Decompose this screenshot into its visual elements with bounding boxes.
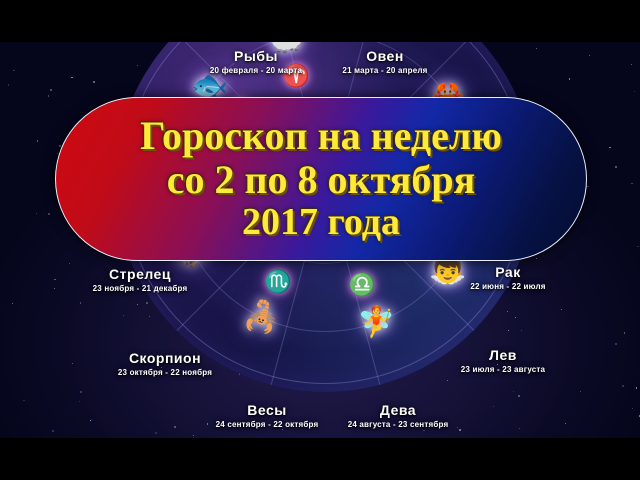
sign-label-virgo: Дева 24 августа - 23 сентября	[328, 402, 468, 429]
wheel-glyph-5: ♎	[349, 272, 376, 298]
letterbox-bottom	[0, 438, 640, 480]
title-banner: Гороскоп на неделю со 2 по 8 октября 201…	[55, 97, 587, 261]
sign-label-cancer: Рак 22 июня - 22 июля	[448, 264, 568, 291]
video-thumbnail: 🐟🐏🦀🦁👼🧚🦂🐎 ♓♈♋♌♍♎♏♐ Рыбы 20 февраля - 20 м…	[0, 0, 640, 480]
sign-label-aries: Овен 21 марта - 20 апреля	[320, 48, 450, 75]
sign-label-libra: Весы 24 сентября - 22 октября	[197, 402, 337, 429]
wheel-art-5: 🧚	[345, 292, 407, 354]
sign-label-scorpio: Скорпион 23 октября - 22 ноября	[95, 350, 235, 377]
wheel-art-6: 🦂	[231, 287, 293, 349]
sign-label-pisces: Рыбы 20 февраля - 20 марта	[196, 48, 316, 75]
sign-label-sagittarius: Стрелец 23 ноября - 21 декабря	[73, 266, 207, 293]
title-line-1: Гороскоп на неделю	[140, 116, 502, 157]
title-line-3: 2017 года	[242, 203, 400, 242]
sign-label-leo: Лев 23 июля - 23 августа	[440, 347, 566, 374]
wheel-glyph-6: ♏	[265, 269, 292, 295]
title-line-2: со 2 по 8 октября	[167, 160, 476, 201]
letterbox-top	[0, 0, 640, 42]
